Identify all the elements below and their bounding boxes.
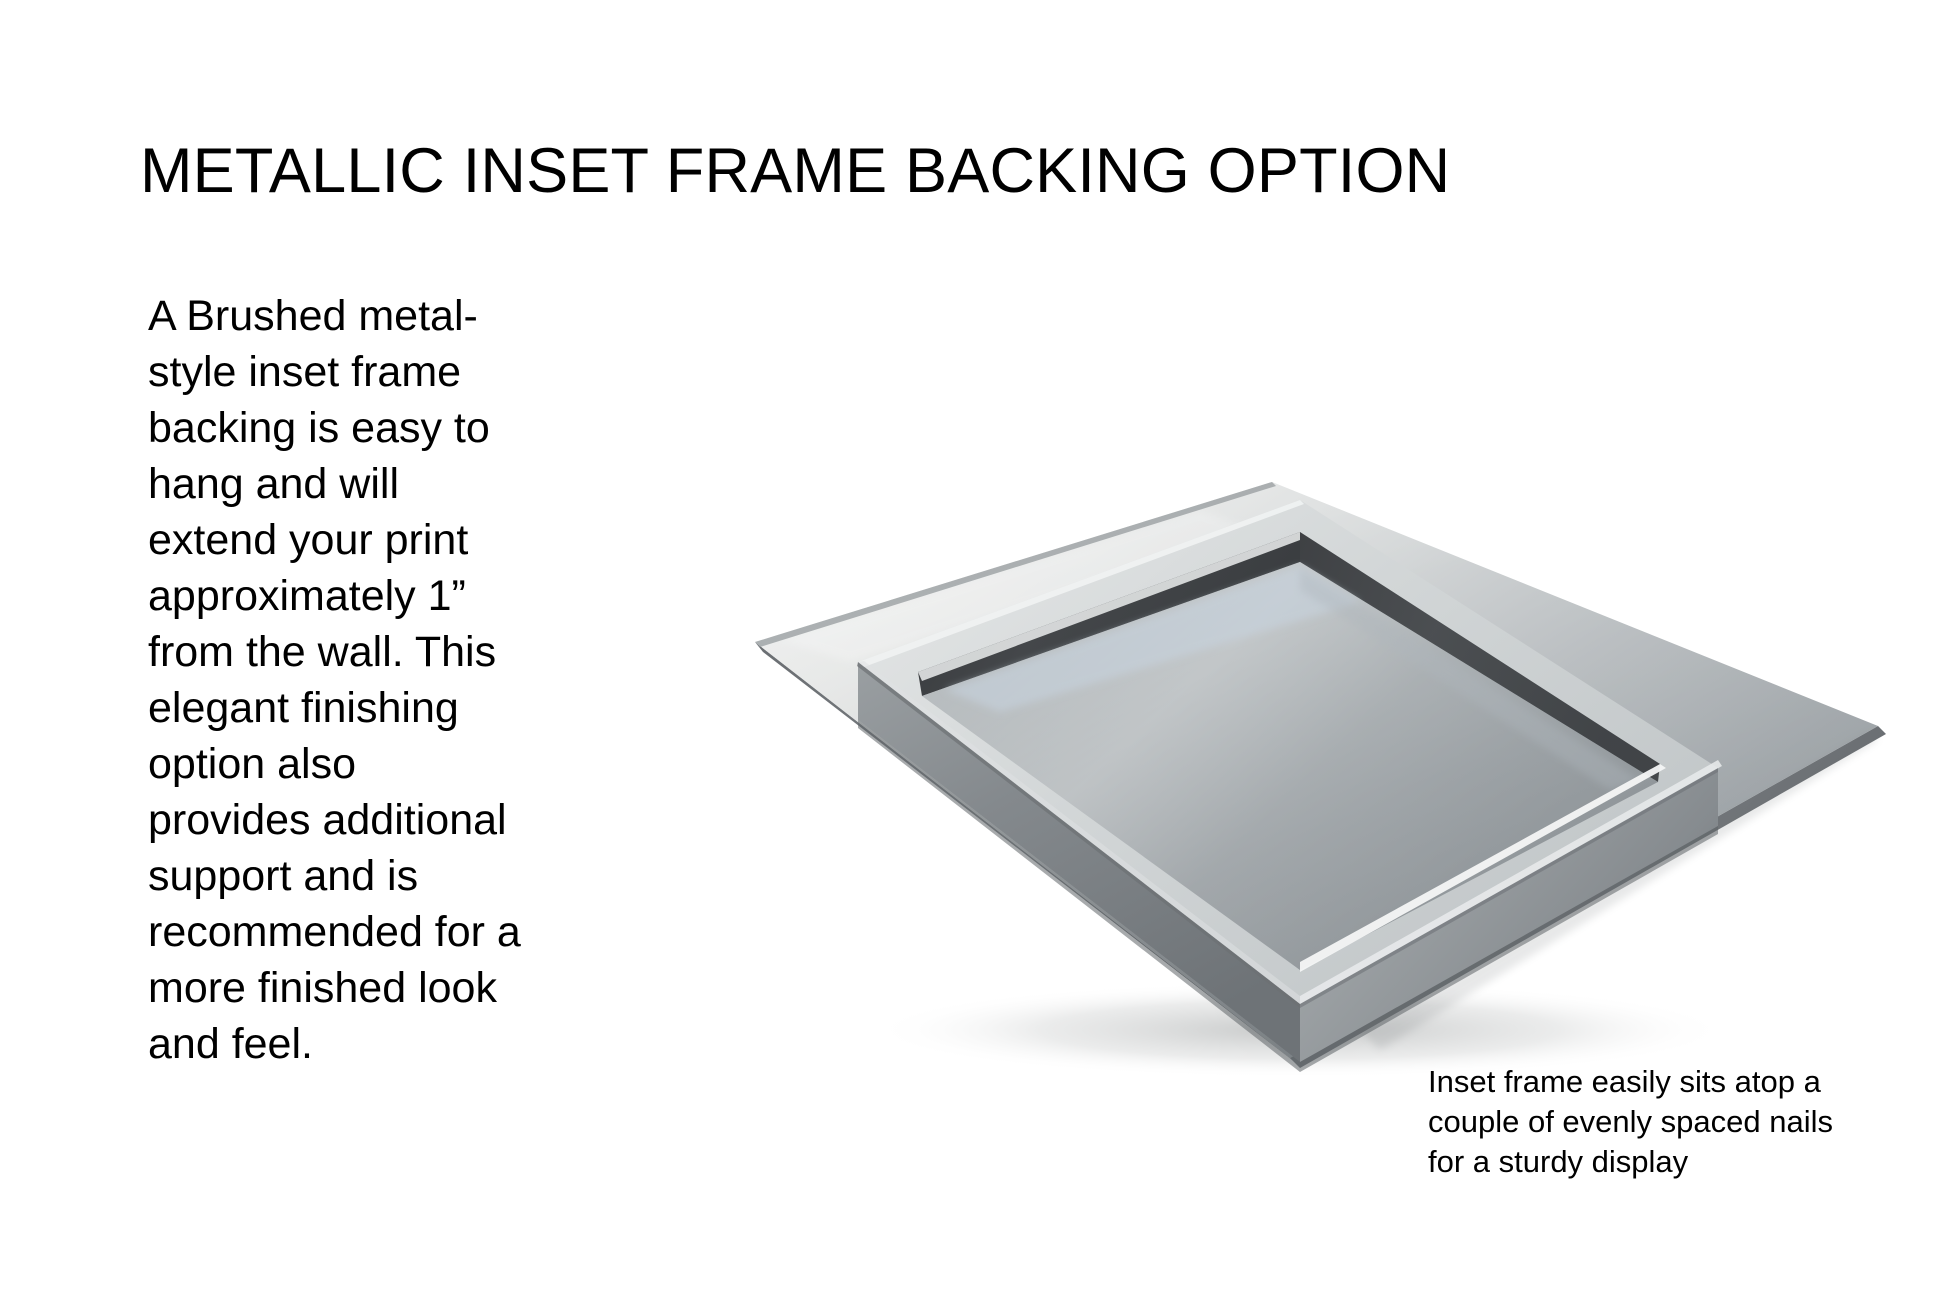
body-paragraph: A Brushed metal-style inset frame backin… bbox=[148, 288, 528, 1072]
product-photo bbox=[600, 390, 1920, 1090]
slide-canvas: METALLIC INSET FRAME BACKING OPTION A Br… bbox=[0, 0, 1946, 1297]
inset-frame-illustration bbox=[600, 390, 1920, 1090]
page-title: METALLIC INSET FRAME BACKING OPTION bbox=[140, 138, 1840, 205]
photo-caption: Inset frame easily sits atop a couple of… bbox=[1428, 1062, 1858, 1182]
